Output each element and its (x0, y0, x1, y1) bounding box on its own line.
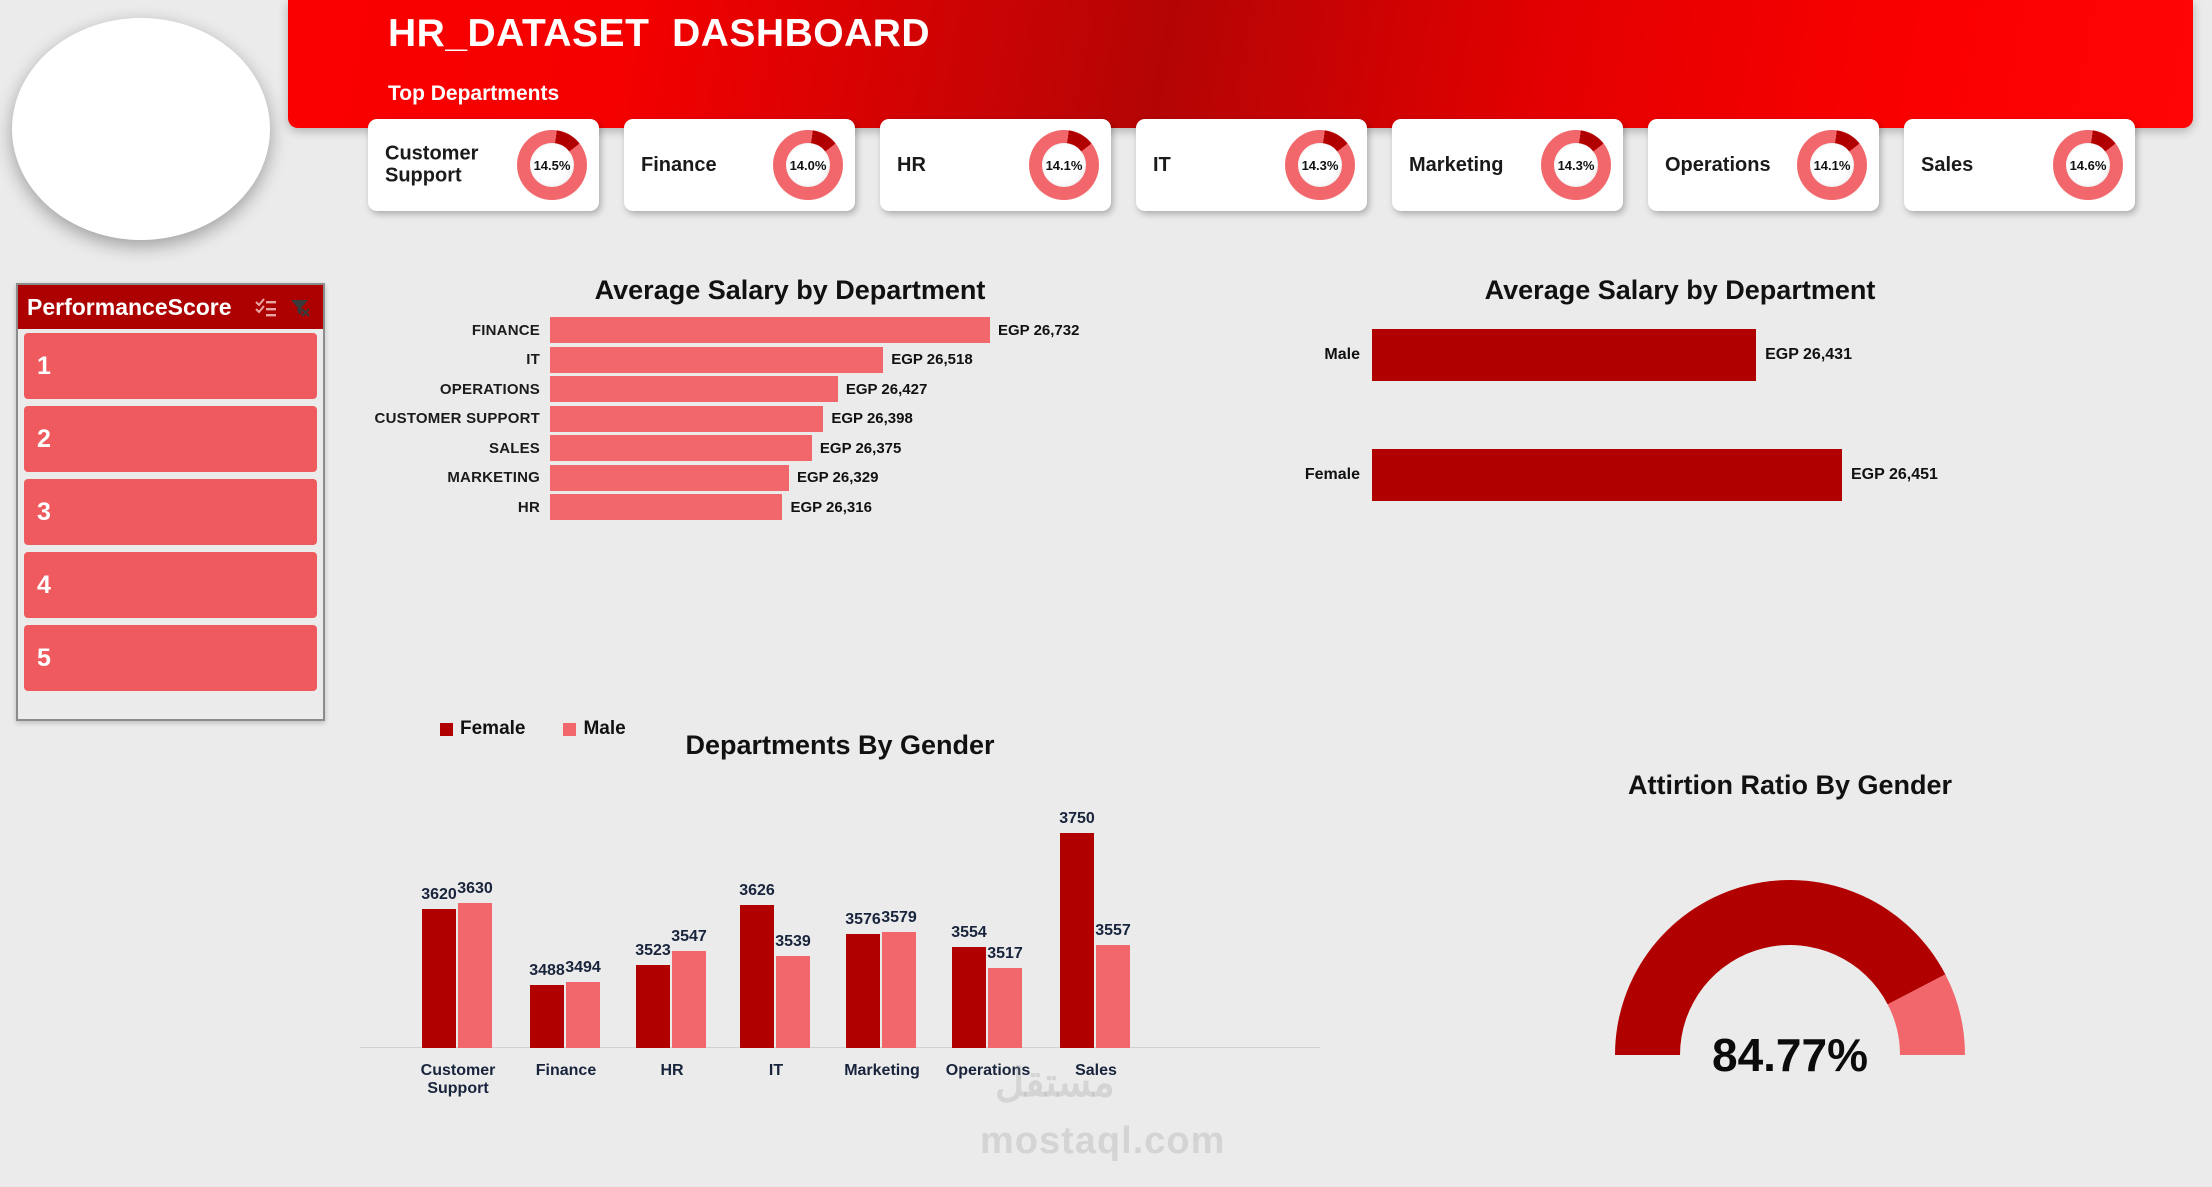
bar (550, 347, 883, 373)
chart-average-salary-by-department: Average Salary by Department FINANCEEGP … (340, 275, 1240, 585)
kpi-card-label: Marketing (1409, 154, 1503, 176)
bar-category-label: Female (1270, 466, 1372, 484)
kpi-donut-chart: 14.1% (1797, 130, 1867, 200)
slicer-item[interactable]: 5 (24, 625, 317, 691)
slicer-title: PerformanceScore (27, 294, 232, 321)
kpi-percent-label: 14.3% (1298, 143, 1342, 187)
column-bar: 3620 (422, 909, 456, 1048)
clear-filter-icon[interactable] (289, 298, 311, 323)
column-value-label: 3626 (739, 882, 775, 900)
kpi-card-label: IT (1153, 154, 1171, 176)
kpi-card[interactable]: HR14.1% (880, 119, 1111, 211)
kpi-donut-chart: 14.3% (1541, 130, 1611, 200)
bar-value-label: EGP 26,329 (797, 469, 878, 486)
column-bar: 3750 (1060, 833, 1094, 1048)
column-value-label: 3523 (635, 942, 671, 960)
column-bar: 3488 (530, 985, 564, 1048)
kpi-card[interactable]: IT14.3% (1136, 119, 1367, 211)
bar (550, 317, 990, 343)
bar-row: FINANCEEGP 26,732 (340, 317, 1079, 343)
gauge-value-label: 84.77% (1555, 1028, 2025, 1082)
column-value-label: 3539 (775, 933, 811, 951)
column-group: 37503557 (1060, 833, 1130, 1048)
bar-row: CUSTOMER SUPPORTEGP 26,398 (340, 406, 913, 432)
bar-row: FemaleEGP 26,451 (1270, 449, 1938, 501)
column-group: 35543517 (952, 947, 1022, 1048)
kpi-percent-label: 14.1% (1042, 143, 1086, 187)
chart-title-dept-salary: Average Salary by Department (340, 275, 1240, 306)
bar (550, 494, 782, 520)
kpi-percent-label: 14.6% (2066, 143, 2110, 187)
column-value-label: 3557 (1095, 922, 1131, 940)
kpi-donut-chart: 14.0% (773, 130, 843, 200)
bar-value-label: EGP 26,316 (790, 499, 871, 516)
column-bar: 3576 (846, 934, 880, 1048)
watermark-text: mostaql.com (980, 1120, 1225, 1163)
kpi-card[interactable]: Finance14.0% (624, 119, 855, 211)
bar (1372, 449, 1842, 501)
bar-category-label: MARKETING (340, 469, 550, 486)
column-value-label: 3620 (421, 886, 457, 904)
column-group: 36203630 (422, 903, 492, 1048)
bar-value-label: EGP 26,518 (891, 351, 972, 368)
column-bar: 3579 (882, 932, 916, 1048)
kpi-donut-chart: 14.6% (2053, 130, 2123, 200)
slicer-item[interactable]: 2 (24, 406, 317, 472)
x-axis-line (360, 1047, 1320, 1048)
column-value-label: 3517 (987, 945, 1023, 963)
bar-row: HREGP 26,316 (340, 494, 872, 520)
bar-value-label: EGP 26,732 (998, 322, 1079, 339)
column-value-label: 3494 (565, 959, 601, 977)
bar-row: MaleEGP 26,431 (1270, 329, 1852, 381)
column-value-label: 3547 (671, 928, 707, 946)
dept-salary-plot-area: FINANCEEGP 26,732ITEGP 26,518OPERATIONSE… (340, 317, 1240, 577)
x-axis-label: HR (622, 1062, 722, 1080)
legend-label: Female (460, 718, 525, 740)
column-bar: 3626 (740, 905, 774, 1048)
chart-title-gauge: Attirtion Ratio By Gender (1555, 770, 2025, 801)
column-bar: 3517 (988, 968, 1022, 1048)
bar (550, 435, 812, 461)
column-bar: 3557 (1096, 945, 1130, 1048)
logo-placeholder (12, 18, 270, 240)
kpi-percent-label: 14.3% (1554, 143, 1598, 187)
column-bar: 3554 (952, 947, 986, 1048)
top-departments-label: Top Departments (388, 82, 559, 106)
slicer-item[interactable]: 3 (24, 479, 317, 545)
bar (1372, 329, 1756, 381)
x-axis-label: Operations (938, 1062, 1038, 1080)
bar-value-label: EGP 26,375 (820, 440, 901, 457)
bar-row: ITEGP 26,518 (340, 347, 973, 373)
chart-title-gender-salary: Average Salary by Department (1270, 275, 2090, 306)
bar-value-label: EGP 26,398 (831, 410, 912, 427)
bar-row: SALESEGP 26,375 (340, 435, 901, 461)
bar-value-label: EGP 26,431 (1765, 346, 1852, 364)
bar-category-label: IT (340, 351, 550, 368)
column-value-label: 3554 (951, 924, 987, 942)
slicer-header: PerformanceScore (18, 285, 323, 329)
column-bar: 3523 (636, 965, 670, 1048)
kpi-card-label: HR (897, 154, 926, 176)
kpi-card[interactable]: CustomerSupport14.5% (368, 119, 599, 211)
slicer-item-list: 12345 (18, 329, 323, 704)
slicer-item[interactable]: 4 (24, 552, 317, 618)
column-value-label: 3750 (1059, 810, 1095, 828)
column-plot-area: 3620363034883494352335473626353935763579… (360, 808, 1320, 1048)
kpi-card[interactable]: Marketing14.3% (1392, 119, 1623, 211)
x-axis-label: Marketing (832, 1062, 932, 1080)
kpi-card-label: Operations (1665, 154, 1771, 176)
bar-category-label: Male (1270, 346, 1372, 364)
chart-attrition-gauge: Attirtion Ratio By Gender 84.77% (1555, 770, 2025, 1100)
column-value-label: 3630 (457, 880, 493, 898)
column-group: 34883494 (530, 982, 600, 1048)
column-bar: 3630 (458, 903, 492, 1048)
column-bar: 3494 (566, 982, 600, 1048)
x-axis-label: IT (726, 1062, 826, 1080)
kpi-card-label: CustomerSupport (385, 143, 478, 188)
kpi-card-row: CustomerSupport14.5%Finance14.0%HR14.1%I… (368, 119, 2198, 215)
kpi-donut-chart: 14.3% (1285, 130, 1355, 200)
multi-select-icon[interactable] (255, 298, 277, 323)
legend-swatch (440, 723, 453, 736)
x-axis-label: Sales (1046, 1062, 1146, 1080)
column-value-label: 3488 (529, 962, 565, 980)
kpi-card[interactable]: Operations14.1% (1648, 119, 1879, 211)
bar-category-label: SALES (340, 440, 550, 457)
column-group: 35763579 (846, 932, 916, 1048)
column-group: 35233547 (636, 951, 706, 1048)
kpi-card-label: Sales (1921, 154, 1973, 176)
page-title: HR_DATASET DASHBOARD (388, 12, 930, 56)
bar-category-label: CUSTOMER SUPPORT (340, 410, 550, 427)
bar-category-label: OPERATIONS (340, 381, 550, 398)
dashboard-header: HR_DATASET DASHBOARD Top Departments (288, 0, 2193, 128)
bar (550, 465, 789, 491)
kpi-card[interactable]: Sales14.6% (1904, 119, 2135, 211)
column-bar: 3547 (672, 951, 706, 1048)
bar-row: OPERATIONSEGP 26,427 (340, 376, 927, 402)
kpi-card-label: Finance (641, 154, 717, 176)
column-value-label: 3576 (845, 911, 881, 929)
kpi-donut-chart: 14.5% (517, 130, 587, 200)
bar-value-label: EGP 26,451 (1851, 466, 1938, 484)
column-bar: 3539 (776, 956, 810, 1048)
x-axis-label: Customer Support (408, 1062, 508, 1099)
bar-category-label: FINANCE (340, 322, 550, 339)
chart-average-salary-by-gender: Average Salary by Department MaleEGP 26,… (1270, 275, 2090, 605)
kpi-percent-label: 14.5% (530, 143, 574, 187)
column-value-label: 3579 (881, 909, 917, 927)
gender-salary-plot-area: MaleEGP 26,431FemaleEGP 26,451 (1270, 319, 2090, 599)
bar-value-label: EGP 26,427 (846, 381, 927, 398)
bar (550, 376, 838, 402)
kpi-percent-label: 14.1% (1810, 143, 1854, 187)
slicer-item[interactable]: 1 (24, 333, 317, 399)
chart-title-dept-gender: Departments By Gender (540, 730, 1140, 761)
kpi-percent-label: 14.0% (786, 143, 830, 187)
chart-departments-by-gender: FemaleMale Departments By Gender 3620363… (360, 710, 1320, 1110)
x-axis-label: Finance (516, 1062, 616, 1080)
bar-row: MARKETINGEGP 26,329 (340, 465, 878, 491)
column-group: 36263539 (740, 905, 810, 1048)
bar-category-label: HR (340, 499, 550, 516)
bar (550, 406, 823, 432)
legend-item[interactable]: Female (440, 718, 525, 740)
performance-score-slicer[interactable]: PerformanceScore 12345 (16, 283, 325, 721)
kpi-donut-chart: 14.1% (1029, 130, 1099, 200)
